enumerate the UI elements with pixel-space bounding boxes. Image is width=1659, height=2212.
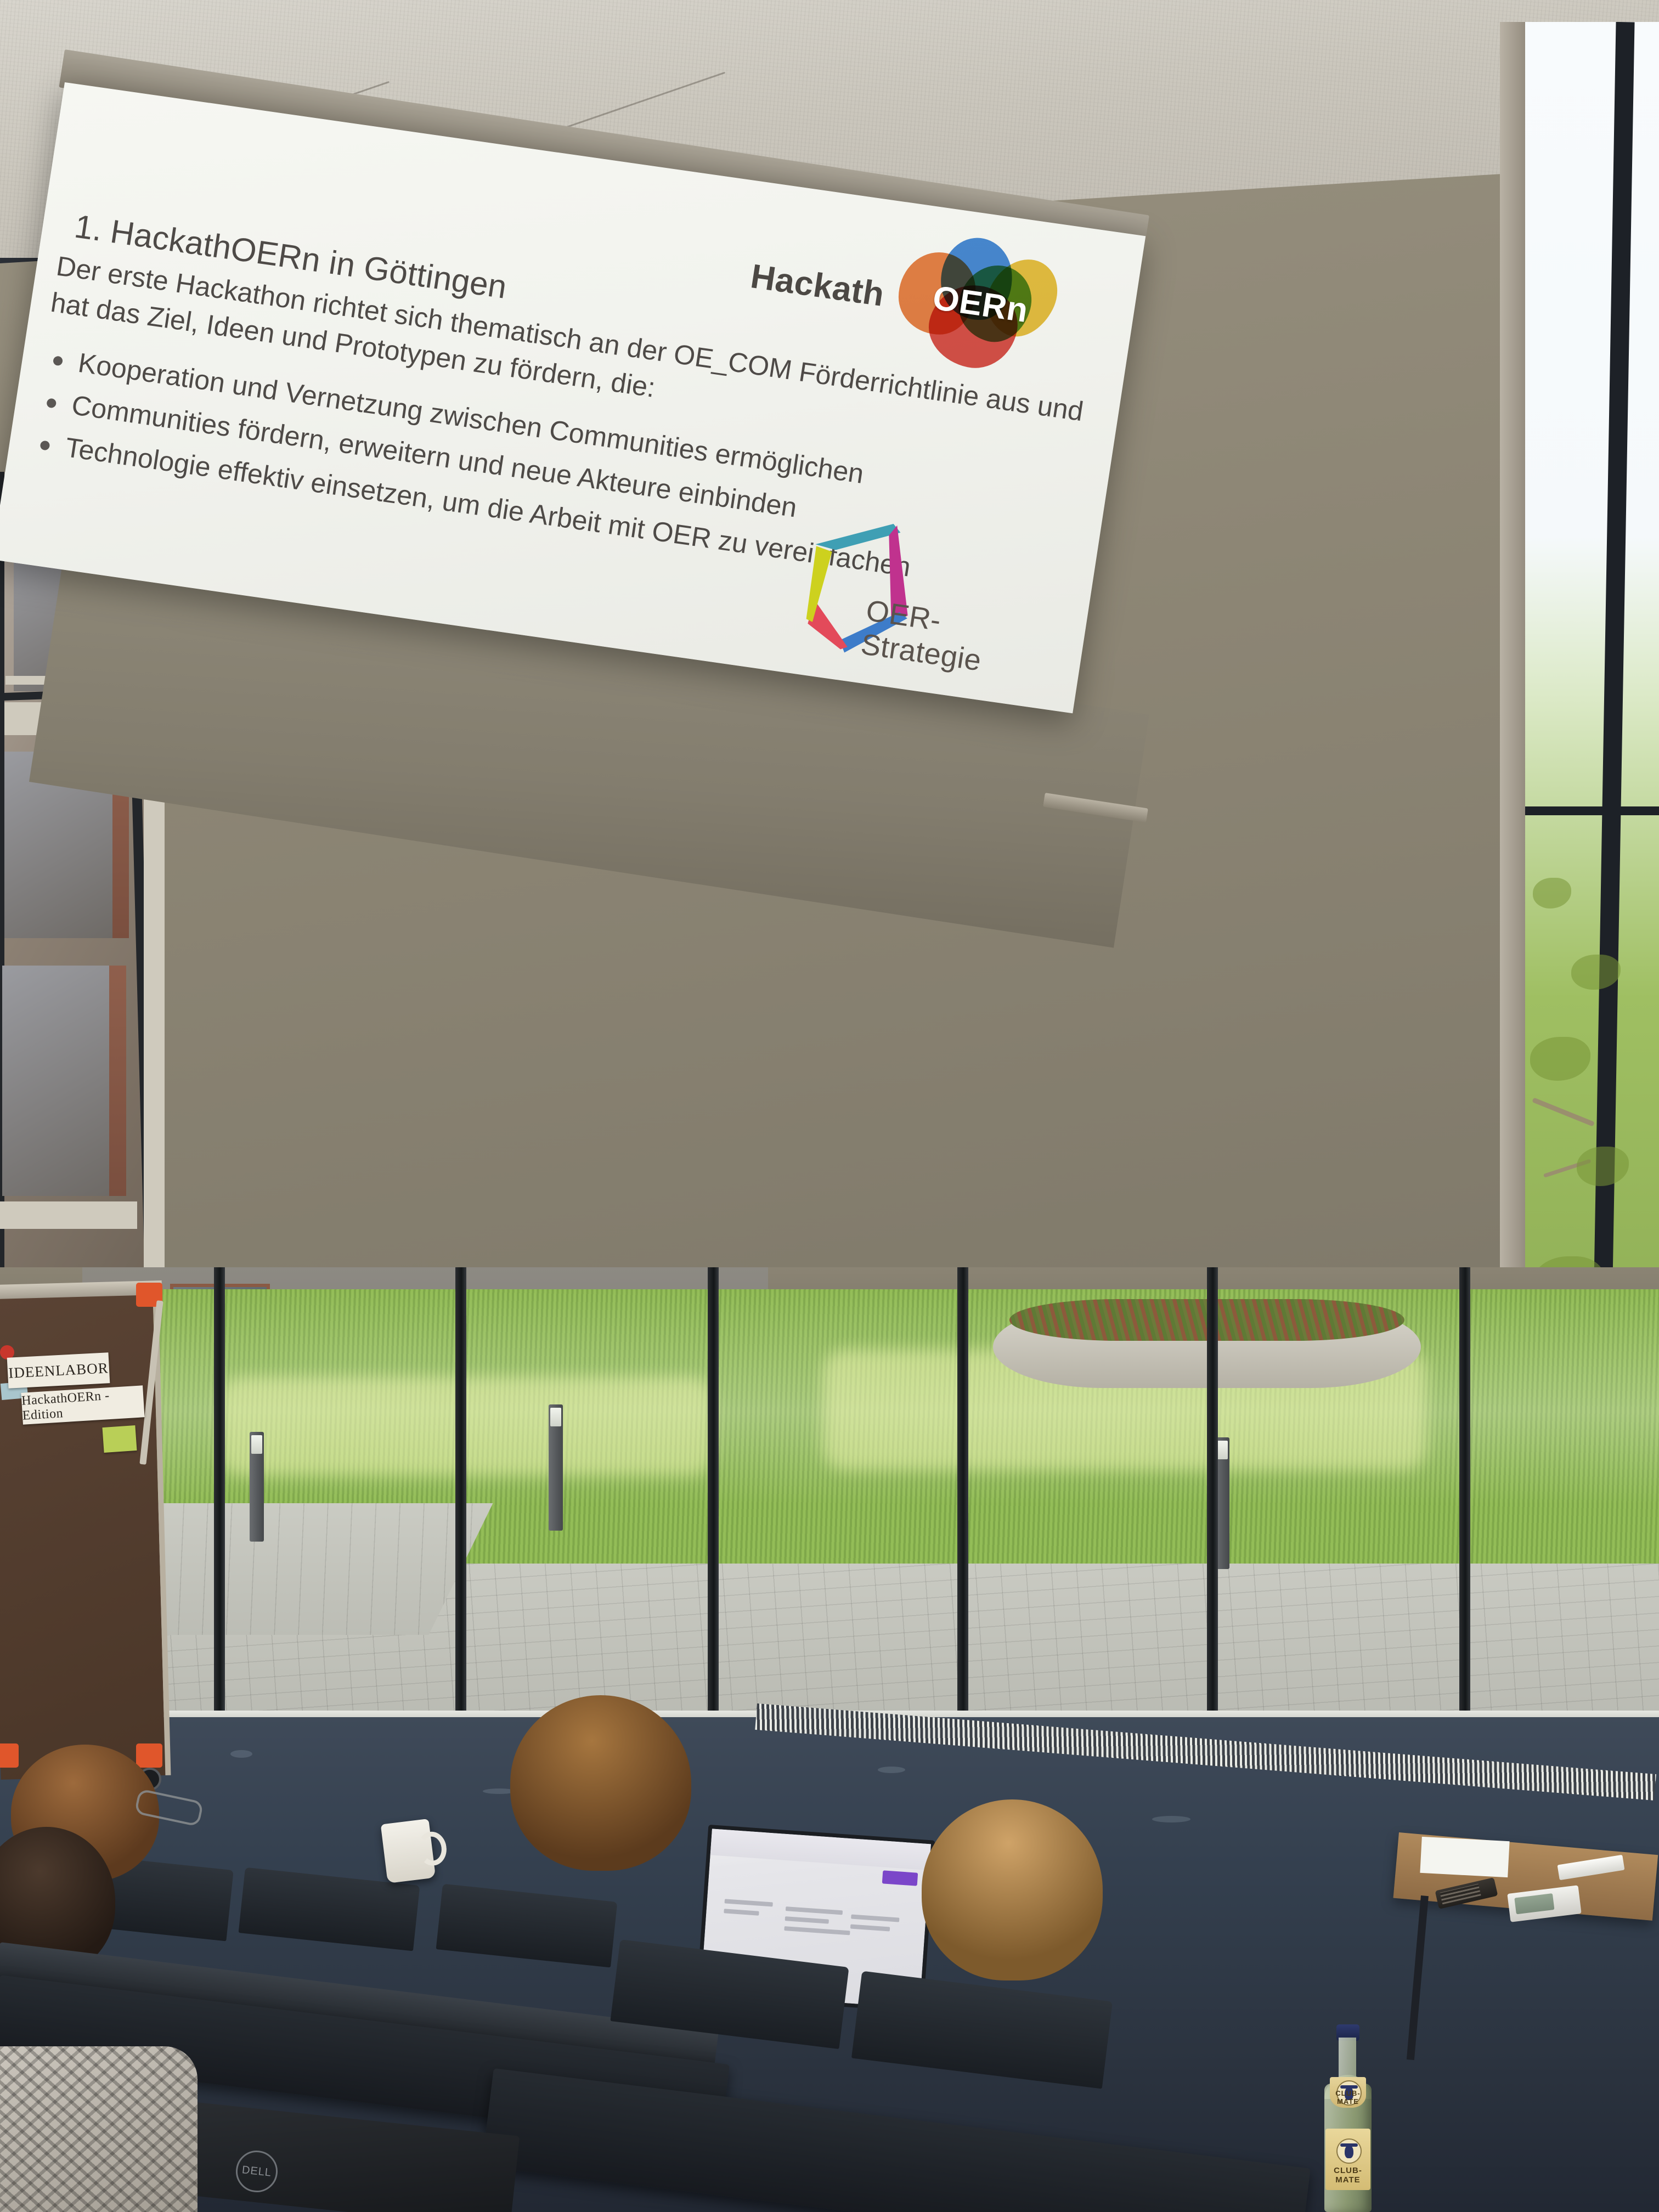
oer-strategie-logo: OER-Strategie xyxy=(793,492,1035,686)
right-window xyxy=(1500,22,1659,1377)
bottle-neck-text: CLUB-MATE xyxy=(1330,2089,1366,2106)
hackathoern-wordmark-dark: Hackath xyxy=(748,257,887,314)
club-mate-emblem xyxy=(1336,2138,1362,2164)
club-mate-bottle: CLUB-MATE CLUB-MATE xyxy=(1322,2024,1375,2212)
pinboard-sign-ideenlabor: IDEENLABOR xyxy=(7,1352,110,1389)
screenshot-stage: Hackath OERn 1.HackathOERn in Göttingen … xyxy=(0,0,1659,2212)
bottle-body-text: CLUB-MATE xyxy=(1325,2166,1370,2185)
audience-head xyxy=(922,1799,1103,1980)
audience-person-sweater xyxy=(0,2046,198,2212)
slide-title-number: 1. xyxy=(72,207,114,250)
facade-mullion xyxy=(957,1267,968,1745)
hackathoern-logo: Hackath OERn xyxy=(866,224,1115,360)
facade-mullion xyxy=(1207,1267,1218,1745)
bollard-light xyxy=(549,1404,563,1531)
facade-mullion xyxy=(708,1267,719,1745)
audience-head xyxy=(510,1695,691,1871)
facade-mullion xyxy=(1459,1267,1470,1745)
coffee-mug xyxy=(381,1819,436,1883)
bollard-light xyxy=(250,1432,264,1542)
lectern-paper-sheet xyxy=(1420,1837,1509,1877)
pinboard-corner-bracket xyxy=(136,1743,162,1768)
glass-facade-courtyard xyxy=(0,1267,1659,1745)
bottle-neck-label: CLUB-MATE xyxy=(1330,2077,1366,2108)
pinboard-sticky-note-green xyxy=(102,1425,137,1453)
pinboard-corner-bracket xyxy=(0,1743,19,1768)
bottle-body-label: CLUB-MATE xyxy=(1325,2129,1370,2190)
facade-mullion xyxy=(455,1267,466,1745)
oer-strategie-label: OER-Strategie xyxy=(859,594,1021,682)
browser-active-tab xyxy=(882,1870,918,1886)
facade-mullion xyxy=(214,1267,225,1745)
